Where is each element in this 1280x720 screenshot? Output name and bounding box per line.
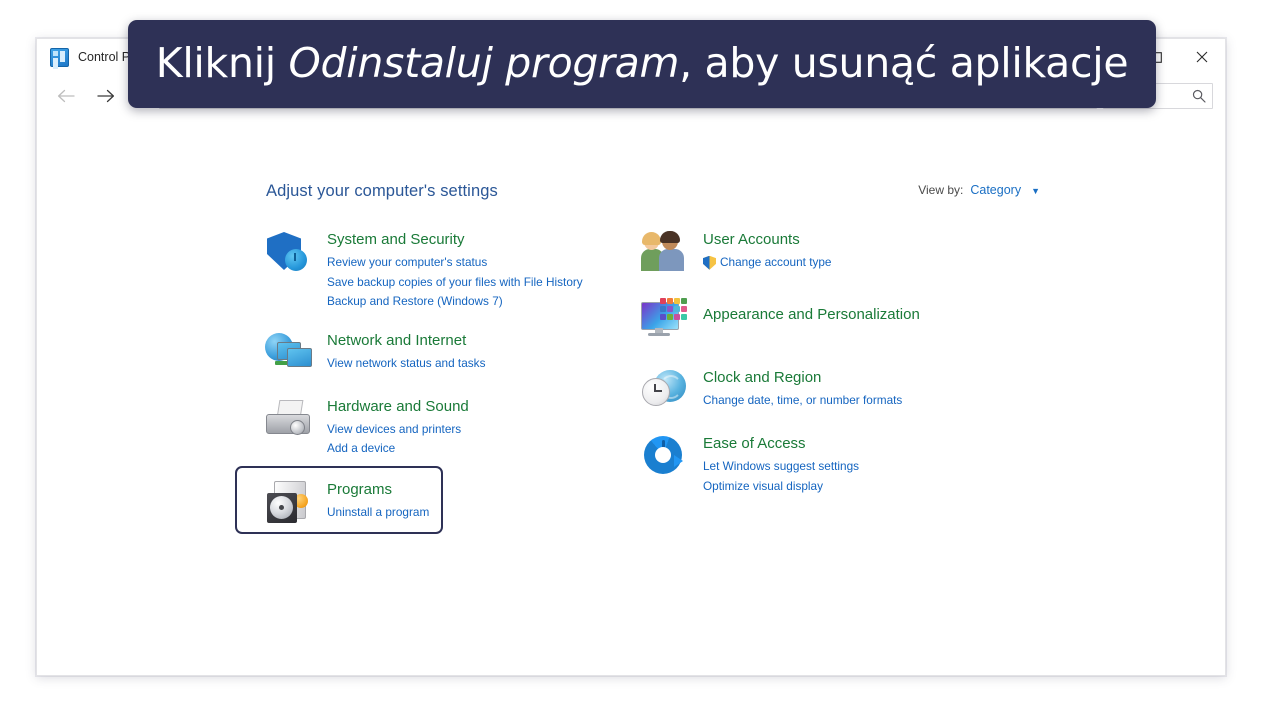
page-title: Adjust your computer's settings — [266, 182, 498, 201]
category-network-and-internet[interactable]: Network and Internet View network status… — [265, 330, 615, 378]
forward-arrow-icon — [97, 89, 115, 103]
category-link[interactable]: Save backup copies of your files with Fi… — [327, 273, 583, 293]
programs-disc-icon — [265, 479, 313, 527]
palette-swatch — [674, 306, 680, 312]
category-title[interactable]: System and Security — [327, 230, 583, 250]
close-button[interactable] — [1179, 39, 1225, 75]
instruction-banner-text: Kliknij Odinstaluj program, aby usunąć a… — [156, 41, 1129, 86]
category-hardware-and-sound[interactable]: Hardware and Sound View devices and prin… — [265, 396, 615, 459]
shield-icon — [265, 229, 313, 277]
palette-swatch — [660, 306, 666, 312]
palette-swatch — [681, 306, 687, 312]
palette-swatch — [660, 314, 666, 320]
palette-swatch — [674, 298, 680, 304]
view-by-label: View by: — [918, 183, 963, 197]
users-icon — [641, 229, 689, 277]
category-link-row[interactable]: Change account type — [703, 253, 832, 273]
category-link[interactable]: Change account type — [720, 253, 832, 273]
category-link[interactable]: Change date, time, or number formats — [703, 391, 902, 411]
palette-swatch — [667, 314, 673, 320]
banner-text-after: , aby usunąć aplikacje — [679, 39, 1128, 87]
category-programs[interactable]: Programs Uninstall a program — [265, 479, 615, 527]
category-ease-of-access[interactable]: Ease of Access Let Windows suggest setti… — [641, 433, 981, 496]
view-by-value[interactable]: Category — [970, 183, 1021, 197]
back-arrow-icon — [57, 89, 75, 103]
banner-text-emphasis: Odinstaluj program — [289, 39, 680, 87]
palette-swatch — [681, 298, 687, 304]
palette-swatch — [660, 298, 666, 304]
category-link[interactable]: Review your computer's status — [327, 253, 583, 273]
forward-button[interactable] — [89, 81, 123, 111]
uac-shield-icon — [703, 256, 716, 270]
palette-swatch — [674, 314, 680, 320]
clock-globe-icon — [641, 367, 689, 415]
palette-swatches — [660, 298, 687, 320]
category-user-accounts[interactable]: User Accounts Change account type — [641, 229, 981, 277]
category-title[interactable]: Network and Internet — [327, 331, 485, 351]
control-panel-window: Control Panel — [36, 38, 1226, 676]
close-icon — [1196, 51, 1208, 63]
category-system-and-security[interactable]: System and Security Review your computer… — [265, 229, 615, 312]
printer-icon — [265, 396, 313, 444]
category-title[interactable]: Hardware and Sound — [327, 397, 469, 417]
palette-swatch — [667, 306, 673, 312]
category-link[interactable]: Add a device — [327, 439, 469, 459]
monitor-palette-icon — [641, 295, 689, 343]
banner-text-before: Kliknij — [156, 39, 289, 87]
category-link[interactable]: Optimize visual display — [703, 477, 859, 497]
category-column-right: User Accounts Change account type Appear… — [641, 229, 981, 514]
category-column-left: System and Security Review your computer… — [265, 229, 615, 545]
palette-swatch — [681, 314, 687, 320]
category-appearance-and-personalization[interactable]: Appearance and Personalization — [641, 295, 981, 343]
category-title[interactable]: User Accounts — [703, 230, 832, 250]
search-icon — [1192, 89, 1206, 103]
ease-of-access-icon — [641, 433, 689, 481]
category-clock-and-region[interactable]: Clock and Region Change date, time, or n… — [641, 367, 981, 415]
category-link[interactable]: Backup and Restore (Windows 7) — [327, 292, 583, 312]
category-title[interactable]: Clock and Region — [703, 368, 902, 388]
category-link[interactable]: Uninstall a program — [327, 503, 429, 523]
control-panel-icon — [50, 48, 69, 67]
palette-swatch — [667, 298, 673, 304]
category-title[interactable]: Programs — [327, 480, 429, 500]
chevron-down-icon: ▼ — [1031, 186, 1040, 196]
instruction-banner: Kliknij Odinstaluj program, aby usunąć a… — [128, 20, 1156, 108]
category-title[interactable]: Ease of Access — [703, 434, 859, 454]
category-link[interactable]: View network status and tasks — [327, 354, 485, 374]
category-title[interactable]: Appearance and Personalization — [703, 305, 920, 325]
network-globe-monitors-icon — [265, 330, 313, 378]
control-panel-content: Adjust your computer's settings View by:… — [37, 117, 1225, 675]
back-button[interactable] — [49, 81, 83, 111]
category-link[interactable]: View devices and printers — [327, 420, 469, 440]
category-link[interactable]: Let Windows suggest settings — [703, 457, 859, 477]
view-by-control[interactable]: View by: Category ▼ — [918, 183, 1040, 197]
